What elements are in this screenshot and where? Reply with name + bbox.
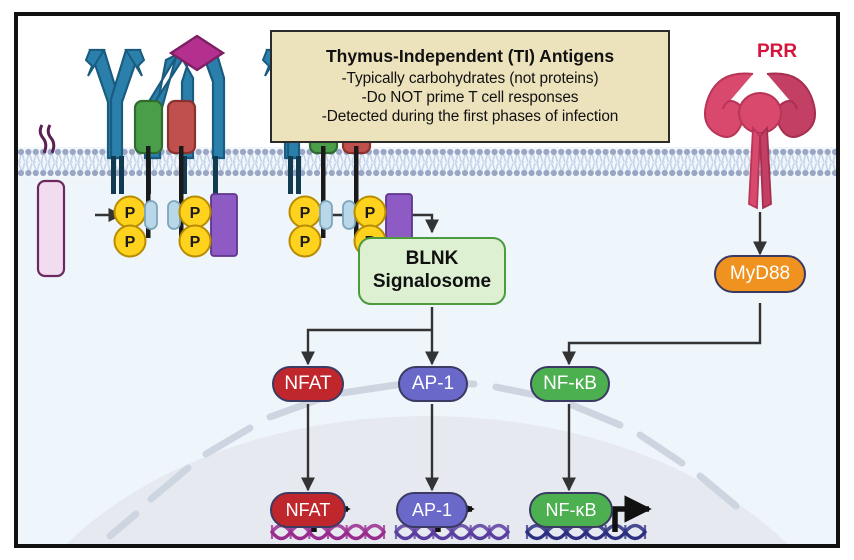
ig-alpha-1 [135, 101, 162, 153]
info-box-heading: Thymus-Independent (TI) Antigens [326, 46, 614, 67]
svg-text:P: P [300, 205, 311, 222]
nucleus-node-ap1[interactable]: AP-1 [396, 492, 468, 528]
node-nfat[interactable]: NFAT [272, 366, 344, 402]
svg-text:P: P [190, 205, 201, 222]
info-box-bullet-1: -Typically carbohydrates (not proteins) [342, 69, 599, 88]
svg-text:P: P [300, 234, 311, 251]
info-box-bullet-2: -Do NOT prime T cell responses [362, 88, 579, 107]
svg-text:P: P [125, 205, 136, 222]
ig-beta-1 [168, 101, 195, 153]
svg-text:P: P [365, 205, 376, 222]
svg-text:P: P [190, 234, 201, 251]
prr-label: PRR [732, 41, 822, 63]
blnk-line-2: Signalosome [373, 271, 491, 294]
svg-text:P: P [125, 234, 136, 251]
figure-canvas: PPPPPPPP Thymus-Independent (TI) Antigen… [0, 0, 854, 560]
node-ap1[interactable]: AP-1 [398, 366, 468, 402]
node-myd88[interactable]: MyD88 [714, 255, 806, 293]
node-nfkb[interactable]: NF-κB [530, 366, 610, 402]
info-box-bullet-3: -Detected during the first phases of inf… [322, 107, 619, 126]
node-blnk-signalosome[interactable]: BLNK Signalosome [358, 237, 506, 305]
info-box: Thymus-Independent (TI) Antigens -Typica… [270, 30, 670, 143]
diagram-frame: PPPPPPPP Thymus-Independent (TI) Antigen… [14, 12, 840, 548]
blnk-line-1: BLNK [373, 248, 491, 271]
nucleus-node-nfkb[interactable]: NF-κB [529, 492, 613, 528]
nucleus-node-nfat[interactable]: NFAT [270, 492, 346, 528]
